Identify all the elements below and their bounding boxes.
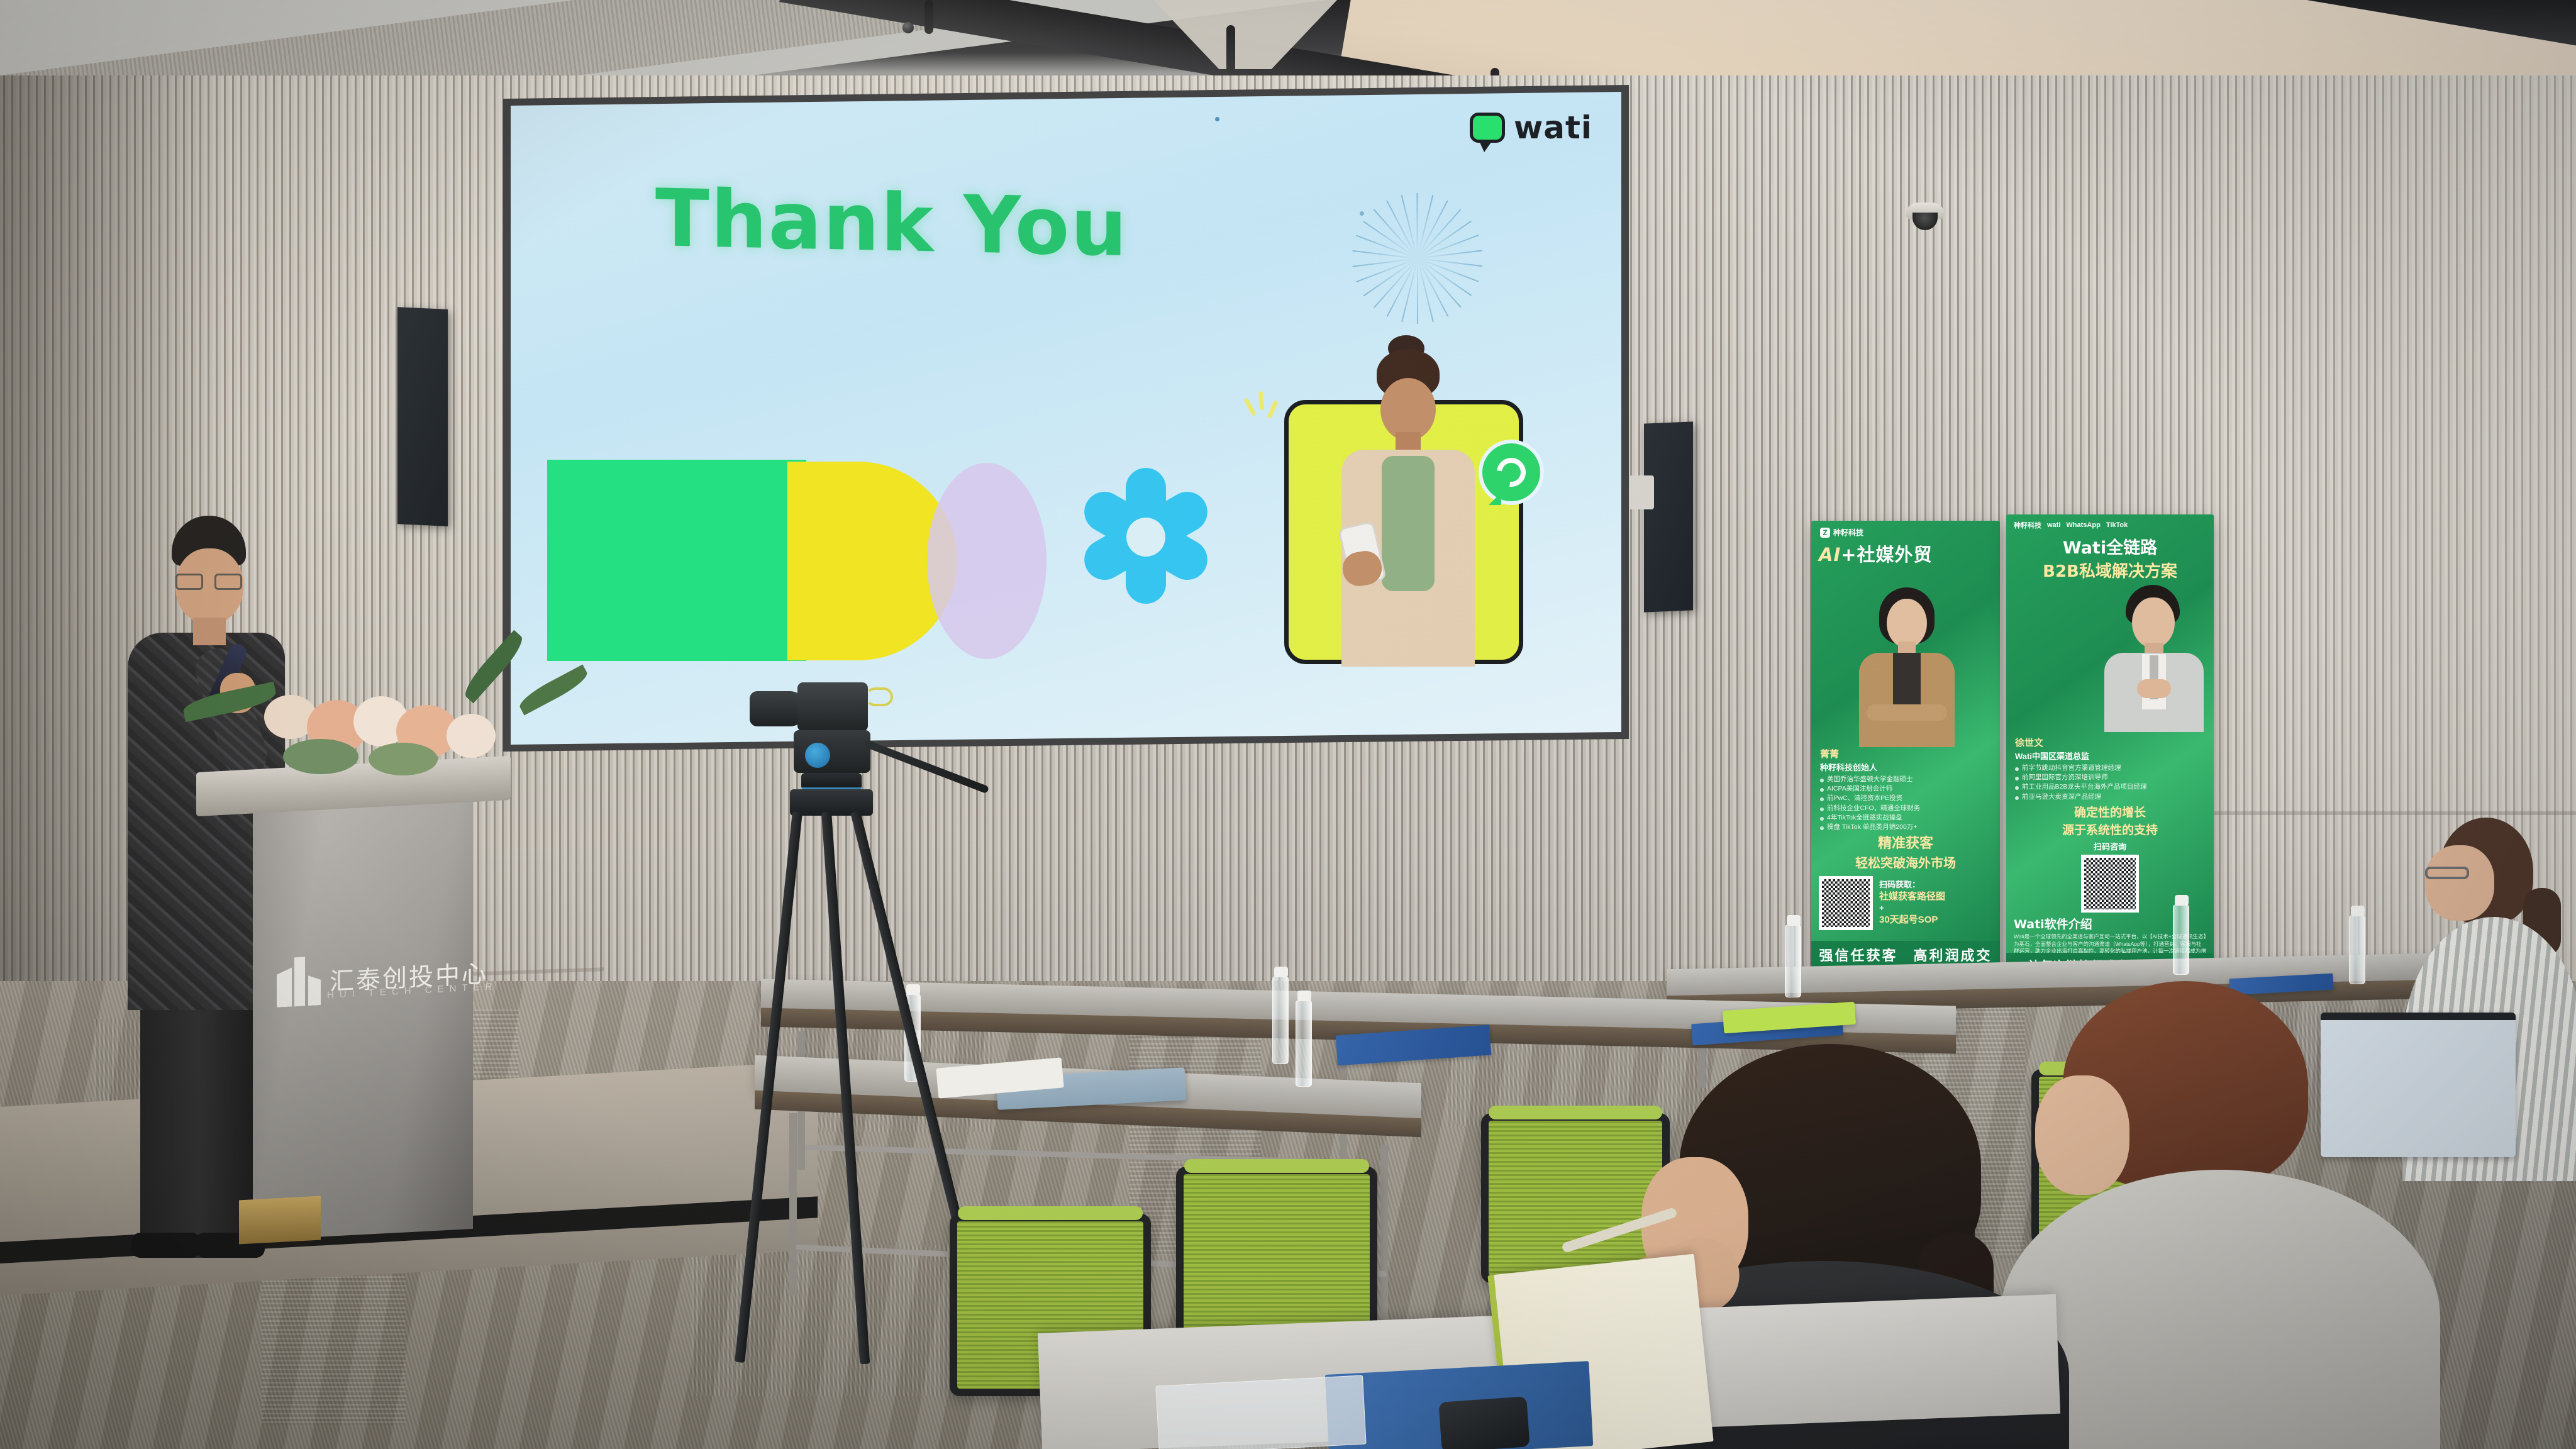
portrait-folded-arms — [1867, 704, 1947, 721]
camera-on-tripod — [717, 682, 931, 1368]
green-rectangle-block — [547, 460, 806, 661]
portrait-inner-top — [1893, 653, 1921, 711]
pendant-light — [1226, 25, 1235, 73]
banner-one-person-name: 菁菁 — [1811, 747, 2000, 760]
chair-top-lip — [958, 1206, 1143, 1220]
banner-two-slogan-line2: 源于系统性的支持 — [2006, 823, 2214, 837]
list-item: 操盘 TikTok 单品类月销200万+ — [1820, 823, 1996, 832]
table-leg — [1380, 1145, 1388, 1327]
portrait-hand — [2137, 679, 2171, 698]
face — [1380, 378, 1436, 441]
banner-one-title-rest: 社媒外贸 — [1857, 544, 1933, 565]
wall-speaker-left — [397, 307, 448, 526]
tripod-leg — [735, 811, 802, 1363]
bottle-cap — [1274, 967, 1288, 977]
banner-two-title-line1: Wati全链路 — [2006, 530, 2214, 558]
qr-code — [2081, 855, 2139, 913]
list-item: AICPA美国注册会计师 — [1820, 784, 1996, 794]
banner-two-title-line2: B2B私域解决方案 — [2006, 558, 2214, 582]
banner-two-portrait — [2101, 585, 2207, 730]
qr-code — [1819, 876, 1873, 930]
list-item: 前亚马逊大卖资深产品经理 — [2015, 792, 2210, 802]
banner-two-credentials-list: 前字节跳动抖音官方渠道管理经理 前阿里国际官方资深培训导师 前工业用品B2B龙头… — [2006, 763, 2214, 802]
spark-dot — [1360, 211, 1364, 216]
sunburst-ray — [1417, 193, 1418, 258]
banner-one-title-plus: + — [1841, 544, 1857, 565]
sunburst-decoration — [1348, 189, 1486, 328]
portrait-face — [2132, 597, 2175, 648]
blue-flower-icon — [1077, 468, 1215, 606]
slide-headline: Thank You — [655, 172, 1128, 274]
sunburst-ray — [1417, 258, 1418, 324]
speaker-bracket — [1629, 475, 1654, 509]
banner-one-title: AI+社媒外贸 — [1811, 538, 2000, 567]
plastic-sleeve — [1155, 1375, 1366, 1449]
qr-label: 扫码获取： — [1879, 880, 1945, 891]
camera-body — [797, 682, 868, 731]
banner-two-qr-label: 扫码咨询 — [2006, 840, 2214, 852]
bottle-cap — [2351, 906, 2365, 916]
banner-header: Z 种籽科技 — [1811, 521, 2000, 538]
person-photo-card — [1284, 400, 1523, 664]
water-bottle — [2173, 904, 2189, 975]
banner-one-portrait — [1857, 587, 1957, 745]
dome-camera-lens — [1913, 213, 1938, 230]
woman-with-phone-illustration — [1328, 349, 1488, 667]
flower-bloom — [447, 714, 496, 758]
green-tank-top — [1382, 456, 1435, 591]
water-bottle — [1785, 924, 1801, 997]
list-item: 前PwC、清控资本PE投资 — [1820, 794, 1996, 803]
list-item: 4年TikTok全链路实战操盘 — [1820, 813, 1996, 823]
wall-speaker-right — [1644, 421, 1693, 612]
tripod-head-knob — [805, 743, 830, 768]
qr-plus: + — [1879, 903, 1945, 914]
flower-foliage — [283, 739, 358, 774]
banner-one-qr-row: 扫码获取： 社媒获客路径图 + 30天起号SOP — [1811, 871, 2000, 930]
bottle-cap — [2175, 895, 2189, 906]
tripod-collar — [801, 773, 862, 791]
presenter-neck — [193, 618, 226, 645]
banner-two-person-role: Wati中国区渠道总监 — [2006, 749, 2214, 763]
water-bottle — [1272, 976, 1289, 1064]
fern-leaf — [181, 682, 278, 722]
spark-dot — [1215, 117, 1219, 121]
banner-one-person-role: 种籽科技创始人 — [1811, 760, 2000, 775]
logo-wati: wati — [2047, 521, 2060, 529]
rollup-banner-seed-tech: Z 种籽科技 AI+社媒外贸 菁菁 种籽科技创始人 美国乔治华盛顿大学金融硕士 … — [1811, 521, 2000, 969]
seed-brand-label: 种籽科技 — [1833, 527, 1863, 538]
lavender-ellipse-block — [927, 463, 1046, 659]
water-bottle — [2349, 915, 2365, 984]
banner-one-slogan-line2: 轻松突破海外市场 — [1811, 856, 2000, 871]
seed-logo-icon: Z — [1820, 528, 1830, 538]
whatsapp-icon — [1482, 443, 1540, 501]
eyeglasses-icon — [175, 574, 245, 590]
logo-seed-tech: 种籽科技 — [2014, 520, 2041, 530]
logo-whatsapp: WhatsApp — [2066, 521, 2100, 529]
qr-line2: 30天起号SOP — [1879, 914, 1945, 926]
bottle-cap — [1297, 991, 1311, 1001]
wati-logo: wati — [1470, 109, 1592, 146]
banner-one-credentials-list: 美国乔治华盛顿大学金融硕士 AICPA美国注册会计师 前PwC、清控资本PE投资… — [1811, 775, 2000, 832]
seed-tech-brand: Z 种籽科技 — [1820, 527, 1863, 538]
banner-one-title-ai: AI — [1819, 544, 1841, 565]
banner-two-slogan-line1: 确定性的增长 — [2006, 806, 2214, 819]
portrait-face — [1887, 599, 1927, 648]
wati-wordmark: wati — [1514, 109, 1592, 146]
flower-arrangement — [189, 651, 572, 789]
security-dome-camera — [1906, 203, 1945, 231]
lectern-podium: 汇泰创投中心 HUI TECH CENTER — [208, 764, 500, 1230]
podium-body — [253, 795, 473, 1240]
banner-two-logo-row: 种籽科技 wati WhatsApp TikTok — [2006, 514, 2214, 530]
banner-one-qr-text: 扫码获取： 社媒获客路径图 + 30天起号SOP — [1879, 880, 1945, 926]
wall-seam — [2214, 811, 2576, 815]
smartphone — [1438, 1396, 1529, 1449]
list-item: 前工业用品B2B龙头平台海外产品项目经理 — [2015, 782, 2210, 792]
tripod-leg — [821, 811, 870, 1364]
list-item: 前字节跳动抖音官方渠道管理经理 — [2015, 763, 2210, 773]
conference-room-photo: wati Thank You — [0, 0, 2576, 1449]
camera-cable-hood — [865, 687, 893, 706]
podium-gold-base-trim — [239, 1196, 321, 1245]
flower-center — [1126, 518, 1165, 557]
logo-tiktok: TikTok — [2106, 521, 2128, 529]
ceiling-spot-light — [902, 22, 914, 33]
list-item: 前科技企业CFO，精通全球财务 — [1820, 804, 1996, 813]
yellow-sparkle-decoration — [1245, 387, 1280, 428]
banner-two-person-name: 徐世文 — [2006, 736, 2214, 749]
chair-top-lip — [1184, 1159, 1369, 1173]
building-mark-icon — [277, 956, 321, 1008]
face — [2425, 845, 2494, 921]
list-item: 美国乔治华盛顿大学金融硕士 — [1820, 775, 1996, 784]
presenter-shoe — [131, 1233, 201, 1258]
bottle-cap — [1787, 915, 1801, 926]
whatsapp-handset-glyph — [1491, 452, 1532, 493]
list-item: 前阿里国际官方资深培训导师 — [2015, 773, 2210, 782]
pendant-light — [924, 0, 933, 34]
qr-line1: 社媒获客路径图 — [1879, 891, 1945, 903]
banner-one-slogan-line1: 精准获客 — [1811, 836, 2000, 852]
water-bottle — [1296, 1000, 1312, 1087]
chat-bubble-icon — [1470, 113, 1505, 143]
flower-foliage — [369, 743, 438, 775]
presentation-slide: wati Thank You — [511, 92, 1621, 745]
eyeglasses-icon — [2425, 867, 2469, 879]
banner-one-profile: 菁菁 种籽科技创始人 美国乔治华盛顿大学金融硕士 AICPA美国注册会计师 前P… — [1811, 747, 2000, 930]
